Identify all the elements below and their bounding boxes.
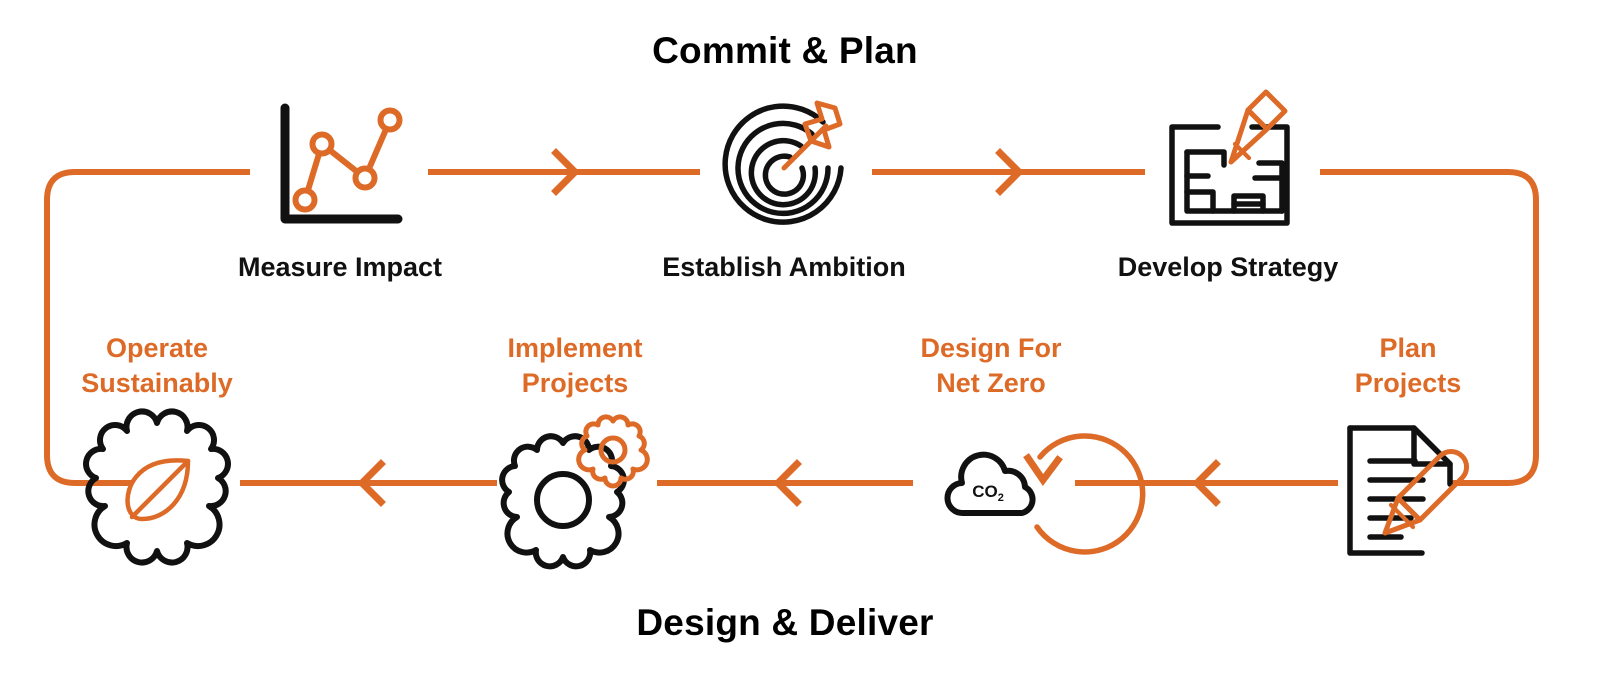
icon-measure-impact: Measure Impact	[238, 108, 442, 282]
arrow-bottom-plan-to-netzero	[1075, 464, 1338, 502]
label-develop-strategy: Develop Strategy	[1118, 252, 1339, 282]
connector-left-loop	[47, 172, 250, 483]
target-dart-icon	[725, 103, 841, 222]
page-title-bottom: Design & Deliver	[636, 602, 933, 643]
label-plan-projects-line2: Projects	[1355, 368, 1462, 398]
label-net-zero-line2: Net Zero	[936, 368, 1046, 398]
co2-label: CO2	[972, 482, 1004, 504]
icon-establish-ambition: Establish Ambition	[662, 103, 906, 282]
label-net-zero-line1: Design For	[920, 333, 1062, 363]
icon-develop-strategy: Develop Strategy	[1118, 92, 1339, 282]
label-measure-impact: Measure Impact	[238, 252, 442, 282]
document-pencil-icon	[1350, 428, 1467, 553]
arrow-bottom-implement-to-operate	[240, 464, 497, 502]
blueprint-pencil-icon	[1172, 92, 1287, 223]
co2-cloud-cycle-icon: CO2	[947, 436, 1142, 552]
label-operate-line2: Sustainably	[81, 368, 233, 398]
page-title-top: Commit & Plan	[652, 30, 918, 71]
icon-implement-projects: Implement Projects	[502, 333, 647, 566]
arrow-top-establish-to-strategy	[872, 153, 1145, 191]
arrow-bottom-netzero-to-implement	[657, 464, 913, 502]
two-gears-icon	[502, 417, 647, 566]
icon-design-for-net-zero: Design For Net Zero CO2	[920, 333, 1142, 552]
label-establish-ambition: Establish Ambition	[662, 252, 906, 282]
label-implement-line1: Implement	[507, 333, 642, 363]
icon-plan-projects: Plan Projects	[1350, 333, 1467, 553]
label-operate-line1: Operate	[106, 333, 208, 363]
label-implement-line2: Projects	[522, 368, 629, 398]
gear-leaf-icon	[86, 411, 228, 562]
diagram-canvas: Commit & Plan Design & Deliver	[0, 0, 1600, 687]
label-plan-projects-line1: Plan	[1379, 333, 1436, 363]
icon-operate-sustainably: Operate Sustainably	[81, 333, 233, 563]
cycle-diagram: Commit & Plan Design & Deliver	[0, 0, 1600, 687]
arrow-top-measure-to-establish	[428, 153, 700, 191]
line-chart-icon	[285, 108, 400, 219]
